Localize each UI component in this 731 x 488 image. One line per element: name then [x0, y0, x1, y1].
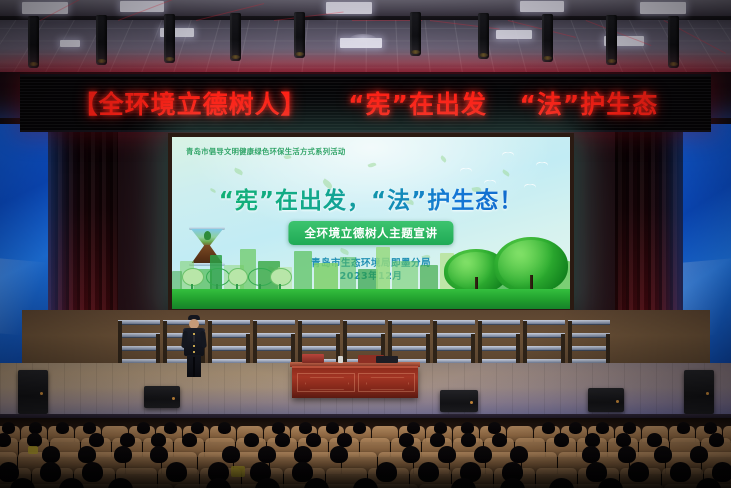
stage-monitor-right — [684, 370, 714, 414]
riser-step — [208, 346, 250, 351]
stage-spotlight-icon — [542, 14, 553, 62]
audience-member — [569, 422, 582, 434]
skyline-building — [294, 251, 312, 291]
riser-leg — [156, 334, 160, 364]
stage-spotlight-icon — [478, 13, 489, 59]
riser-step — [433, 333, 475, 338]
slide-subtitle-pill: 全环境立德树人主题宣讲 — [288, 221, 453, 245]
riser-leg — [471, 334, 475, 364]
riser-unit — [253, 308, 295, 364]
stage-spotlight-icon — [96, 15, 107, 66]
ceiling-light-panel — [60, 40, 80, 47]
riser-leg — [606, 334, 610, 364]
riser-step — [523, 320, 565, 325]
ceiling-light-panel — [640, 2, 686, 14]
stage-monitor-left — [18, 370, 48, 414]
audience-member — [164, 422, 177, 434]
stage-spotlight-icon — [28, 16, 39, 68]
skyline-building — [314, 263, 338, 291]
riser-leg — [163, 321, 167, 364]
riser-step — [298, 346, 340, 351]
audience-member — [677, 422, 690, 434]
riser-leg — [568, 321, 572, 364]
riser-step — [478, 333, 520, 338]
led-banner-text: 【全环境立德树人】 “宪”在出发 “法”护生态 — [73, 85, 659, 121]
riser-step — [568, 346, 610, 351]
riser-unit — [118, 308, 160, 364]
ceiling-light-panel — [496, 30, 532, 39]
riser-step — [343, 333, 385, 338]
riser-leg — [433, 321, 437, 364]
skyline-building — [358, 269, 378, 291]
stage-spotlight-icon — [294, 12, 305, 58]
riser-unit — [523, 308, 565, 364]
lectern-panel-left — [297, 373, 355, 392]
riser-step — [208, 333, 250, 338]
stage-spotlight-icon — [164, 14, 175, 63]
riser-unit — [433, 308, 475, 364]
riser-step — [568, 320, 610, 325]
riser-leg — [523, 321, 527, 364]
audience-member — [554, 433, 569, 447]
riser-step — [118, 333, 160, 338]
riser-step — [253, 320, 295, 325]
audience-item-yellow-left — [28, 446, 38, 454]
audience-member — [0, 433, 11, 447]
skyline-building — [172, 271, 182, 291]
skyline-building — [340, 257, 356, 291]
ceiling-light-panel — [520, 1, 564, 12]
audience-area — [0, 418, 731, 488]
audience-member — [191, 422, 204, 434]
skyline-building — [392, 261, 418, 291]
audience-member — [399, 433, 414, 447]
flying-bird-icon — [460, 165, 472, 173]
riser-step — [478, 320, 520, 325]
riser-step — [343, 320, 385, 325]
riser-unit — [478, 308, 520, 364]
audience-member — [407, 422, 420, 434]
floor-wedge-left — [144, 386, 180, 408]
slide-kicker-text: 青岛市倡导文明健康绿色环保生活方式系列活动 — [186, 147, 346, 157]
skyline-building — [376, 247, 390, 291]
led-segment-2: “宪”在出发 — [348, 90, 487, 119]
flying-bird-icon — [502, 149, 514, 157]
riser-unit — [568, 308, 610, 364]
presenter-legs — [187, 355, 201, 377]
slide-title: “宪”在出发，“法”护生态！ — [172, 181, 570, 215]
projection-screen: 青岛市倡导文明健康绿色环保生活方式系列活动 “宪”在出发，“法”护生态！ 全环境… — [172, 137, 570, 309]
stage-spotlight-icon — [668, 16, 679, 68]
audience-member — [182, 433, 197, 447]
riser-leg — [253, 321, 257, 364]
audience-member — [647, 433, 662, 447]
audience-member — [137, 422, 150, 434]
audience-member — [596, 422, 609, 434]
audience-member — [151, 433, 166, 447]
riser-step — [253, 333, 295, 338]
audience-member — [326, 422, 339, 434]
riser-step — [523, 333, 565, 338]
riser-step — [118, 346, 160, 351]
audience-member — [430, 433, 445, 447]
projection-screen-frame: 青岛市倡导文明健康绿色环保生活方式系列活动 “宪”在出发，“法”护生态！ 全环境… — [168, 133, 574, 313]
riser-step — [388, 320, 430, 325]
audience-member — [709, 433, 724, 447]
riser-leg — [561, 334, 565, 364]
riser-step — [118, 320, 160, 325]
tree-graphic-front — [494, 223, 568, 293]
ceiling-light-panel — [340, 38, 382, 48]
audience-member — [299, 422, 312, 434]
riser-step — [298, 333, 340, 338]
stage-spotlight-icon — [410, 12, 421, 56]
riser-step — [523, 346, 565, 351]
presenter — [181, 315, 207, 377]
audience-member — [89, 433, 104, 447]
auditorium-photo: 【全环境立德树人】 “宪”在出发 “法”护生态 青岛市倡导文明健康绿色环保生活方… — [0, 0, 731, 488]
riser-leg — [118, 321, 122, 364]
riser-leg — [426, 334, 430, 364]
riser-step — [388, 333, 430, 338]
lectern — [292, 366, 418, 398]
audience-member — [492, 433, 507, 447]
audience-member — [337, 433, 352, 447]
grass-band — [172, 289, 570, 309]
audience-bottom-shadow — [0, 454, 731, 488]
audience-member — [306, 433, 321, 447]
floor-wedge-right — [588, 388, 624, 412]
desk-item-sign — [302, 354, 324, 363]
audience-member — [120, 433, 135, 447]
riser-step — [253, 346, 295, 351]
microphone-icon — [193, 335, 195, 342]
audience-member — [27, 433, 42, 447]
audience-member — [616, 433, 631, 447]
audience-member — [542, 422, 555, 434]
riser-leg — [246, 334, 250, 364]
flying-bird-icon — [536, 159, 548, 167]
led-segment-1: 【全环境立德树人】 — [73, 90, 307, 119]
desk-item-laptop — [376, 356, 398, 363]
riser-unit — [208, 308, 250, 364]
lectern-panel-right — [358, 373, 415, 392]
audience-member — [275, 433, 290, 447]
riser-step — [208, 320, 250, 325]
riser-leg — [291, 334, 295, 364]
audience-member — [218, 422, 231, 434]
riser-step — [388, 346, 430, 351]
riser-step — [478, 346, 520, 351]
riser-leg — [478, 321, 482, 364]
riser-step — [568, 333, 610, 338]
skyline-building — [420, 265, 438, 291]
riser-step — [343, 346, 385, 351]
riser-step — [433, 346, 475, 351]
audience-member — [461, 433, 476, 447]
riser-step — [298, 320, 340, 325]
audience-member — [585, 433, 600, 447]
stage-spotlight-icon — [606, 15, 617, 65]
desk-item-bottle — [338, 356, 343, 363]
riser-leg — [516, 334, 520, 364]
audience-member — [353, 422, 366, 434]
led-segment-3: “法”护生态 — [519, 90, 658, 119]
riser-leg — [343, 321, 347, 364]
riser-leg — [208, 321, 212, 364]
floor-wedge-center — [440, 390, 478, 412]
riser-step — [433, 320, 475, 325]
presenter-arm-right — [200, 331, 207, 348]
led-banner: 【全环境立德树人】 “宪”在出发 “法”护生态 — [20, 74, 711, 132]
audience-member — [244, 433, 259, 447]
stage-spotlight-icon — [230, 13, 241, 61]
audience-member — [56, 422, 69, 434]
